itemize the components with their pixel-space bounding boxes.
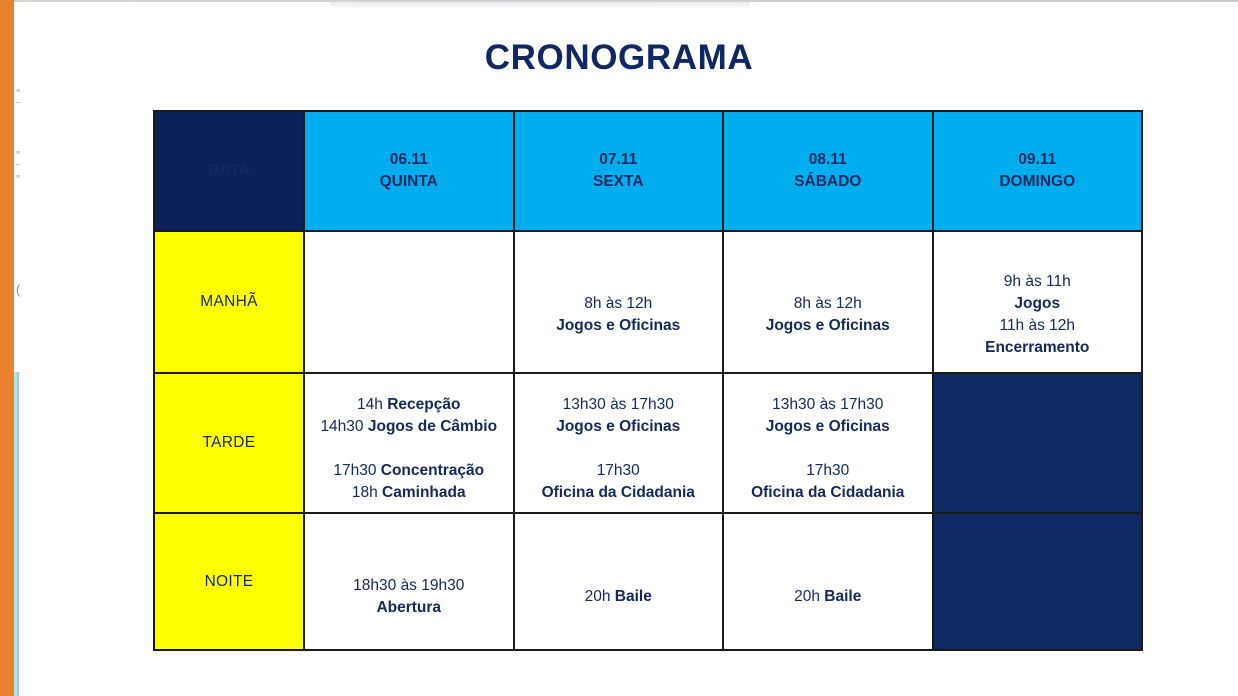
schedule-activity: Concentração <box>381 462 484 479</box>
header-date: 08.11 <box>724 149 932 171</box>
schedule-time: 9h às 11h <box>1004 273 1071 290</box>
left-gray-stripe <box>17 372 19 696</box>
schedule-line: Encerramento <box>938 337 1138 359</box>
header-cell-day-1: 07.11 SEXTA <box>514 111 724 231</box>
schedule-activity: Caminhada <box>382 484 466 501</box>
header-cell-day-2: 08.11 SÁBADO <box>723 111 933 231</box>
schedule-cell: 9h às 11hJogos11h às 12hEncerramento <box>933 231 1143 373</box>
schedule-line: 8h às 12h <box>728 293 928 315</box>
schedule-time: 17h30 <box>333 462 380 479</box>
schedule-line: Jogos e Oficinas <box>728 416 928 438</box>
schedule-line: 14h Recepção <box>309 394 509 416</box>
header-date: 06.11 <box>305 149 513 171</box>
schedule-line: Jogos <box>938 293 1138 315</box>
schedule-activity: Jogos <box>1014 295 1060 312</box>
top-edge-shadow <box>330 2 750 10</box>
schedule-time: 14h30 <box>320 418 367 435</box>
table-body: MANHÃ8h às 12hJogos e Oficinas8h às 12hJ… <box>154 231 1142 650</box>
schedule-cell-content: 20h Baile <box>515 556 723 608</box>
schedule-cell: 20h Baile <box>723 513 933 650</box>
schedule-time: 13h30 às 17h30 <box>772 396 883 413</box>
schedule-line-spacer <box>309 438 509 460</box>
edge-text-fragment: ─ <box>16 100 21 108</box>
schedule-line: 9h às 11h <box>938 271 1138 293</box>
schedule-cell-content: 20h Baile <box>724 556 932 608</box>
schedule-line: 20h Baile <box>728 586 928 608</box>
schedule-activity: Jogos e Oficinas <box>766 418 890 435</box>
table-row: TARDE14h Recepção14h30 Jogos de Câmbio 1… <box>154 373 1142 513</box>
schedule-cell-content: 8h às 12hJogos e Oficinas <box>724 267 932 337</box>
schedule-cell-blocked <box>933 373 1143 513</box>
schedule-line: 14h30 Jogos de Câmbio <box>309 416 509 438</box>
schedule-activity: Jogos e Oficinas <box>556 418 680 435</box>
schedule-cell: 8h às 12hJogos e Oficinas <box>723 231 933 373</box>
schedule-cell-blocked <box>933 513 1143 650</box>
period-label-1: TARDE <box>154 373 304 513</box>
schedule-line: 11h às 12h <box>938 315 1138 337</box>
period-label-2: NOITE <box>154 513 304 650</box>
schedule-cell <box>304 231 514 373</box>
period-label-0: MANHÃ <box>154 231 304 373</box>
schedule-line-spacer <box>728 438 928 460</box>
header-cell-day-0: 06.11 QUINTA <box>304 111 514 231</box>
schedule-time: 8h às 12h <box>584 295 652 312</box>
table-header-row: DATA 06.11 QUINTA 07.11 SEXTA 08.11 SÁBA… <box>154 111 1142 231</box>
schedule-cell-content: 13h30 às 17h30Jogos e Oficinas 17h30Ofic… <box>724 382 932 504</box>
schedule-time: 8h às 12h <box>794 295 862 312</box>
schedule-activity: Oficina da Cidadania <box>542 484 695 501</box>
edge-text-fragment: ( <box>16 286 20 294</box>
schedule-activity: Jogos e Oficinas <box>556 317 680 334</box>
header-weekday: DOMINGO <box>934 171 1142 193</box>
schedule-cell: 13h30 às 17h30Jogos e Oficinas 17h30Ofic… <box>514 373 724 513</box>
schedule-time: 20h <box>585 588 615 605</box>
schedule-activity: Oficina da Cidadania <box>751 484 904 501</box>
schedule-time: 17h30 <box>806 462 849 479</box>
schedule-activity: Jogos e Oficinas <box>766 317 890 334</box>
schedule-cell-content: 9h às 11hJogos11h às 12hEncerramento <box>934 245 1142 359</box>
schedule-line: 20h Baile <box>519 586 719 608</box>
schedule-line-spacer <box>519 438 719 460</box>
schedule-time: 18h30 às 19h30 <box>353 577 464 594</box>
schedule-line: Oficina da Cidadania <box>728 482 928 504</box>
schedule-time: 17h30 <box>597 462 640 479</box>
schedule-line: Jogos e Oficinas <box>519 315 719 337</box>
schedule-line: 17h30 <box>728 460 928 482</box>
schedule-line: 8h às 12h <box>519 293 719 315</box>
schedule-line: 18h Caminhada <box>309 482 509 504</box>
schedule-time: 13h30 às 17h30 <box>563 396 674 413</box>
schedule-cell: 20h Baile <box>514 513 724 650</box>
header-cell-day-3: 09.11 DOMINGO <box>933 111 1143 231</box>
schedule-line: Abertura <box>309 597 509 619</box>
schedule-time: 14h <box>357 396 387 413</box>
schedule-line: Jogos e Oficinas <box>728 315 928 337</box>
edge-text-fragment: ≡ <box>16 174 20 182</box>
schedule-cell: 8h às 12hJogos e Oficinas <box>514 231 724 373</box>
schedule-line: Oficina da Cidadania <box>519 482 719 504</box>
header-cell-data: DATA <box>154 111 304 231</box>
header-weekday: QUINTA <box>305 171 513 193</box>
schedule-time: 11h às 12h <box>999 317 1075 334</box>
schedule-line: 17h30 Concentração <box>309 460 509 482</box>
schedule-line: 13h30 às 17h30 <box>728 394 928 416</box>
schedule-activity: Baile <box>615 588 652 605</box>
schedule-cell-content: 18h30 às 19h30Abertura <box>305 545 513 619</box>
schedule-activity: Baile <box>824 588 861 605</box>
schedule-activity: Recepção <box>387 396 460 413</box>
edge-text-fragment: ≡ <box>16 150 20 158</box>
edge-text-fragment: ─ <box>16 162 21 170</box>
slide-canvas: ≡ ─ ≡ ─ ≡ ( CRONOGRAMA DATA 06.11 QUINTA… <box>0 0 1238 696</box>
schedule-cell-content: 13h30 às 17h30Jogos e Oficinas 17h30Ofic… <box>515 382 723 504</box>
schedule-line: Jogos e Oficinas <box>519 416 719 438</box>
schedule-line: 17h30 <box>519 460 719 482</box>
schedule-cell: 14h Recepção14h30 Jogos de Câmbio 17h30 … <box>304 373 514 513</box>
schedule-cell-content: 8h às 12hJogos e Oficinas <box>515 267 723 337</box>
schedule-activity: Jogos de Câmbio <box>368 418 497 435</box>
table-row: NOITE18h30 às 19h30Abertura20h Baile20h … <box>154 513 1142 650</box>
schedule-time: 20h <box>794 588 824 605</box>
schedule-line: 13h30 às 17h30 <box>519 394 719 416</box>
schedule-activity: Abertura <box>376 599 441 616</box>
header-date: 09.11 <box>934 149 1142 171</box>
edge-text-fragment: ≡ <box>16 88 20 96</box>
schedule-cell: 13h30 às 17h30Jogos e Oficinas 17h30Ofic… <box>723 373 933 513</box>
schedule-activity: Encerramento <box>985 339 1089 356</box>
page-title: CRONOGRAMA <box>0 38 1238 78</box>
schedule-table: DATA 06.11 QUINTA 07.11 SEXTA 08.11 SÁBA… <box>153 110 1143 651</box>
header-weekday: SÁBADO <box>724 171 932 193</box>
schedule-cell-content: 14h Recepção14h30 Jogos de Câmbio 17h30 … <box>305 382 513 504</box>
schedule-cell: 18h30 às 19h30Abertura <box>304 513 514 650</box>
header-weekday: SEXTA <box>515 171 723 193</box>
schedule-time: 18h <box>352 484 382 501</box>
header-date: 07.11 <box>515 149 723 171</box>
left-orange-stripe <box>0 0 14 696</box>
schedule-line: 18h30 às 19h30 <box>309 575 509 597</box>
table-row: MANHÃ8h às 12hJogos e Oficinas8h às 12hJ… <box>154 231 1142 373</box>
